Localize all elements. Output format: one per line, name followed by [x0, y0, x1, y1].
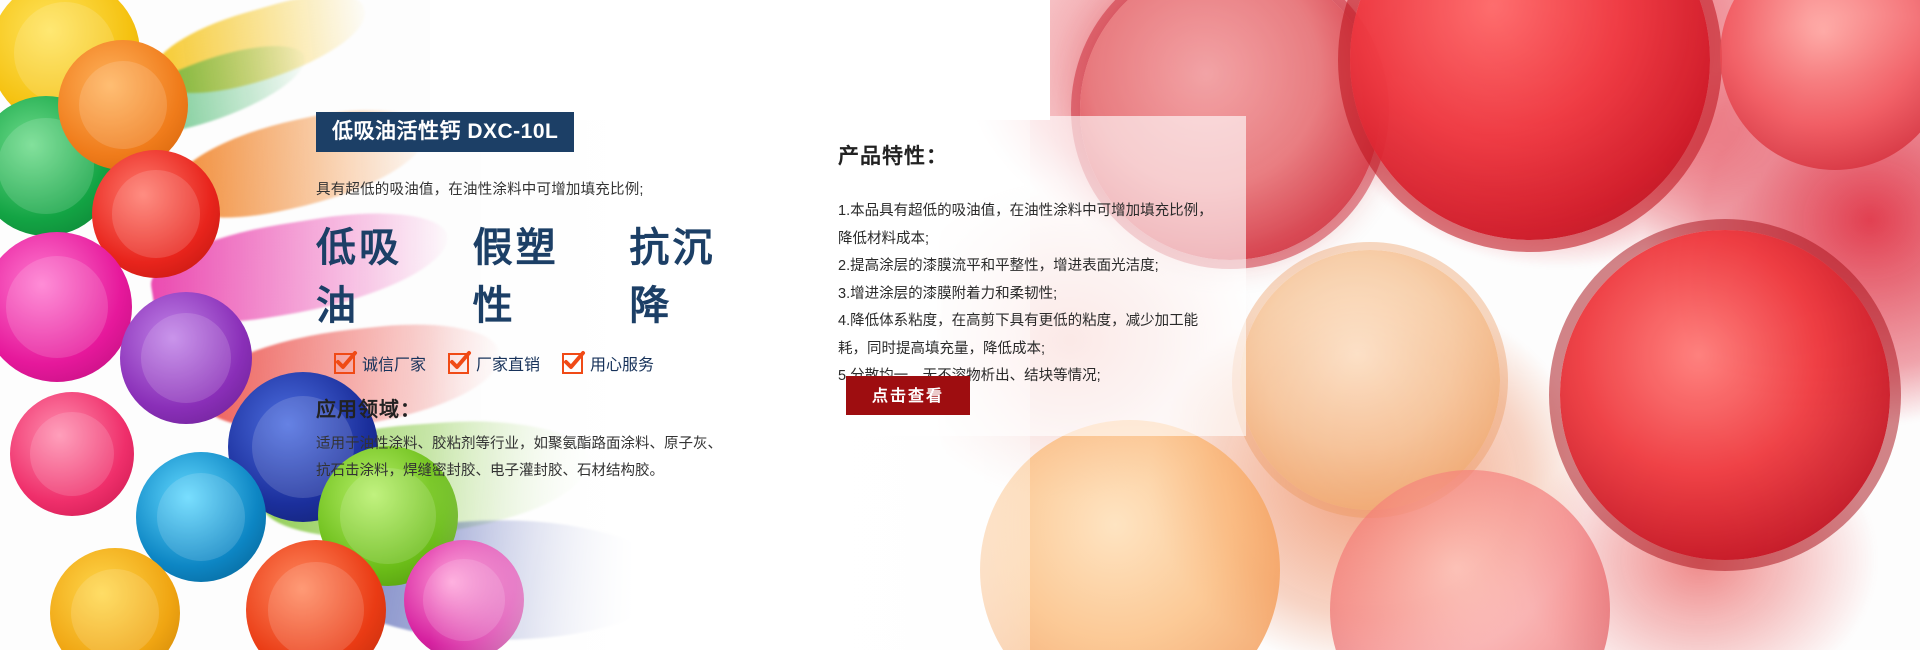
- keyword-anti-settling: 抗沉降: [629, 215, 746, 331]
- trust-badge-label: 厂家直销: [476, 351, 540, 375]
- features-list: 1.本品具有超低的吸油值，在油性涂料中可增加填充比例，降低材料成本; 2.提高涂…: [838, 198, 1216, 391]
- product-features-content: 产品特性： 1.本品具有超低的吸油值，在油性涂料中可增加填充比例，降低材料成本;…: [838, 140, 1258, 391]
- feature-item: 2.提高涂层的漆膜流平和平整性，增进表面光洁度;: [838, 253, 1216, 281]
- paint-pot-pink: [10, 392, 134, 516]
- feature-item: 1.本品具有超低的吸油值，在油性涂料中可增加填充比例，降低材料成本;: [838, 198, 1216, 253]
- trust-badges: 诚信厂家 厂家直销 用心服务: [316, 351, 746, 375]
- features-title: 产品特性：: [838, 140, 1258, 170]
- product-subtitle: 具有超低的吸油值，在油性涂料中可增加填充比例;: [316, 178, 746, 199]
- trust-badge-label: 诚信厂家: [362, 351, 426, 375]
- trust-badge-label: 用心服务: [590, 351, 654, 375]
- trust-badge-honest-manufacturer: 诚信厂家: [334, 351, 426, 375]
- product-title-chip: 低吸油活性钙 DXC-10L: [316, 112, 574, 152]
- keyword-low-oil-absorption: 低吸油: [316, 215, 433, 331]
- view-details-button[interactable]: 点击查看: [846, 376, 970, 415]
- product-banner: 低吸油活性钙 DXC-10L 具有超低的吸油值，在油性涂料中可增加填充比例; 低…: [0, 0, 1920, 650]
- paint-can-red-3: [1560, 230, 1890, 560]
- checkbox-check-icon: [334, 353, 355, 374]
- paint-pot-purple: [120, 292, 252, 424]
- product-info-column: 低吸油活性钙 DXC-10L 具有超低的吸油值，在油性涂料中可增加填充比例; 低…: [316, 112, 746, 485]
- application-body: 适用于油性涂料、胶粘剂等行业，如聚氨酯路面涂料、原子灰、抗石击涂料，焊缝密封胶、…: [316, 431, 728, 485]
- trust-badge-attentive-service: 用心服务: [562, 351, 654, 375]
- product-keywords: 低吸油 假塑性 抗沉降: [316, 215, 746, 331]
- checkbox-check-icon: [448, 353, 469, 374]
- trust-badge-factory-direct: 厂家直销: [448, 351, 540, 375]
- checkbox-check-icon: [562, 353, 583, 374]
- feature-item: 3.增进涂层的漆膜附着力和柔韧性;: [838, 281, 1216, 309]
- feature-item: 4.降低体系粘度，在高剪下具有更低的粘度，减少加工能耗，同时提高填充量，降低成本…: [838, 308, 1216, 363]
- application-heading: 应用领域：: [316, 393, 746, 422]
- keyword-pseudoplasticity: 假塑性: [473, 215, 590, 331]
